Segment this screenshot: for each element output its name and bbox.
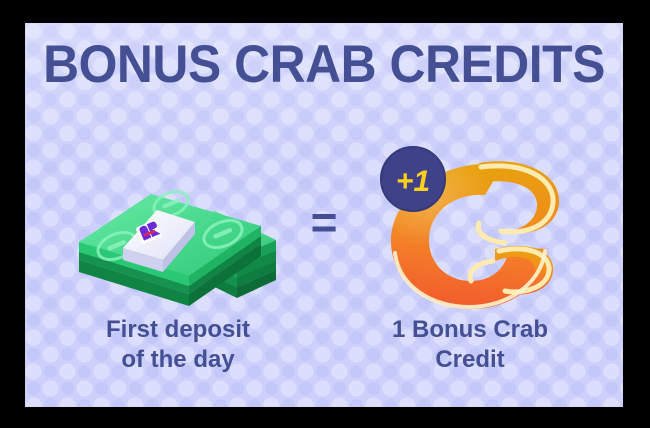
- right-caption: 1 Bonus Crab Credit: [355, 315, 585, 375]
- crab-credit-logo: +1: [375, 137, 565, 312]
- promo-card: BONUS CRAB CREDITS: [25, 23, 623, 407]
- equation-row: =: [25, 129, 623, 319]
- caption-row: First deposit of the day 1 Bonus Crab Cr…: [25, 315, 623, 375]
- equals-glyph: =: [311, 199, 338, 245]
- money-stack-icon: [71, 142, 286, 307]
- equation-left-cell: [63, 132, 293, 317]
- left-caption: First deposit of the day: [63, 315, 293, 375]
- equation-right-cell: +1: [355, 132, 585, 317]
- plus-one-badge-label: +1: [396, 165, 430, 198]
- promo-banner-frame: BONUS CRAB CREDITS: [0, 0, 650, 428]
- page-title: BONUS CRAB CREDITS: [43, 37, 605, 93]
- equals-operator: =: [293, 132, 355, 317]
